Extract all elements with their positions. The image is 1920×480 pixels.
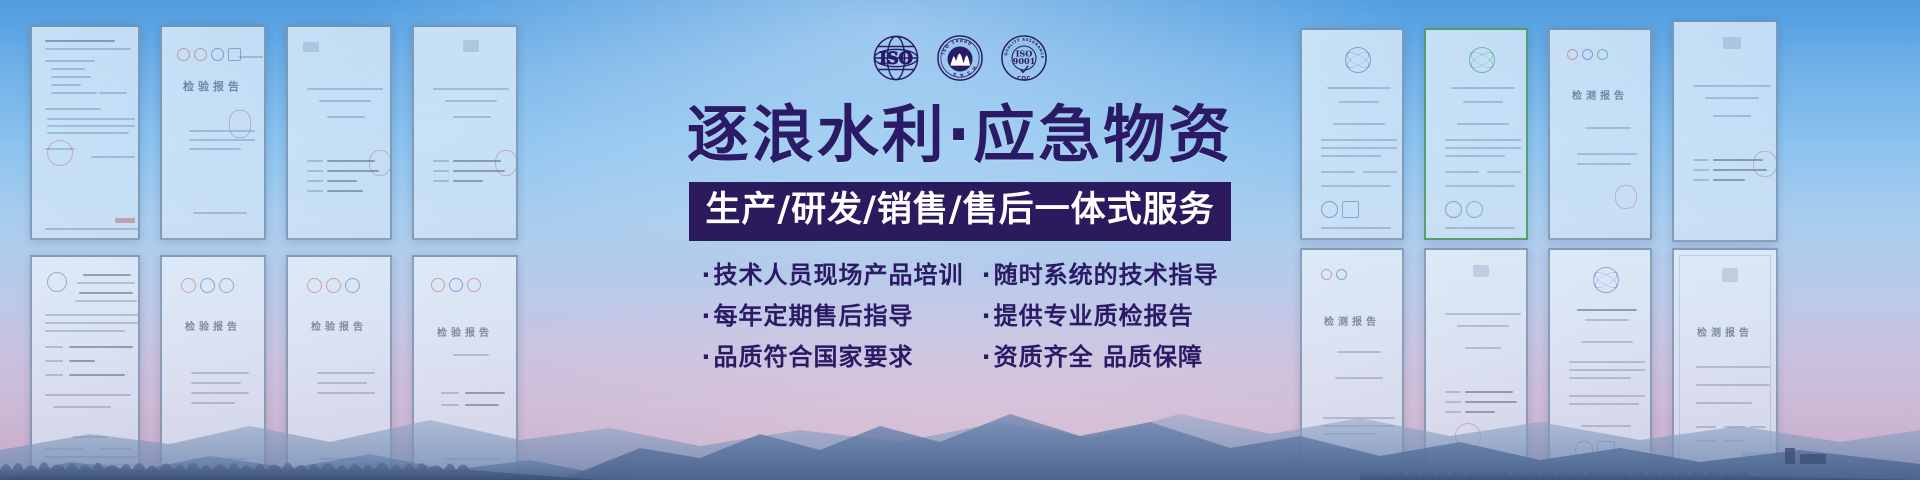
- feature-item-1-label: 技术人员现场产品培训: [714, 261, 964, 289]
- feature-item-5-label: 品质符合国家要求: [714, 343, 914, 371]
- iso-9001-cqc-badge: QUALITY ASSURANCE SYSTEM ISO 9001 CQC: [1000, 34, 1048, 82]
- svg-text:CQC: CQC: [1017, 76, 1031, 82]
- svg-text:9001: 9001: [1013, 56, 1036, 66]
- feature-item-4: ·提供专业质检报告: [982, 304, 1219, 328]
- feature-list: ·技术人员现场产品培训 ·随时系统的技术指导 ·每年定期售后指导 ·提供专业质检…: [701, 263, 1218, 369]
- bullet-dot-icon: ·: [701, 261, 711, 289]
- iso-globe-badge: ISO: [872, 34, 920, 82]
- iso-14000-badge: ISO 14000 H S A S: [936, 34, 984, 82]
- banner-content: ISO ISO 14000 H S A S: [0, 0, 1920, 480]
- feature-item-3: ·每年定期售后指导: [701, 304, 963, 328]
- feature-item-2-label: 随时系统的技术指导: [994, 261, 1219, 289]
- feature-item-3-label: 每年定期售后指导: [714, 302, 914, 330]
- feature-item-4-label: 提供专业质检报告: [994, 302, 1194, 330]
- page-title: 逐浪水利·应急物资: [687, 104, 1234, 166]
- bullet-dot-icon: ·: [701, 302, 711, 330]
- feature-item-5: ·品质符合国家要求: [701, 345, 963, 369]
- bullet-dot-icon: ·: [982, 302, 992, 330]
- feature-item-2: ·随时系统的技术指导: [982, 263, 1219, 287]
- promo-banner: 检验报告: [0, 0, 1920, 480]
- bullet-dot-icon: ·: [982, 261, 992, 289]
- certification-badges: ISO ISO 14000 H S A S: [872, 34, 1048, 82]
- svg-text:ISO: ISO: [879, 49, 913, 68]
- feature-item-1: ·技术人员现场产品培训: [701, 263, 963, 287]
- feature-item-6-label: 资质齐全 品质保障: [994, 343, 1203, 371]
- feature-item-6: ·资质齐全 品质保障: [982, 345, 1219, 369]
- bullet-dot-icon: ·: [982, 343, 992, 371]
- bullet-dot-icon: ·: [701, 343, 711, 371]
- service-tagline-bar: 生产/研发/销售/售后一体式服务: [689, 182, 1230, 241]
